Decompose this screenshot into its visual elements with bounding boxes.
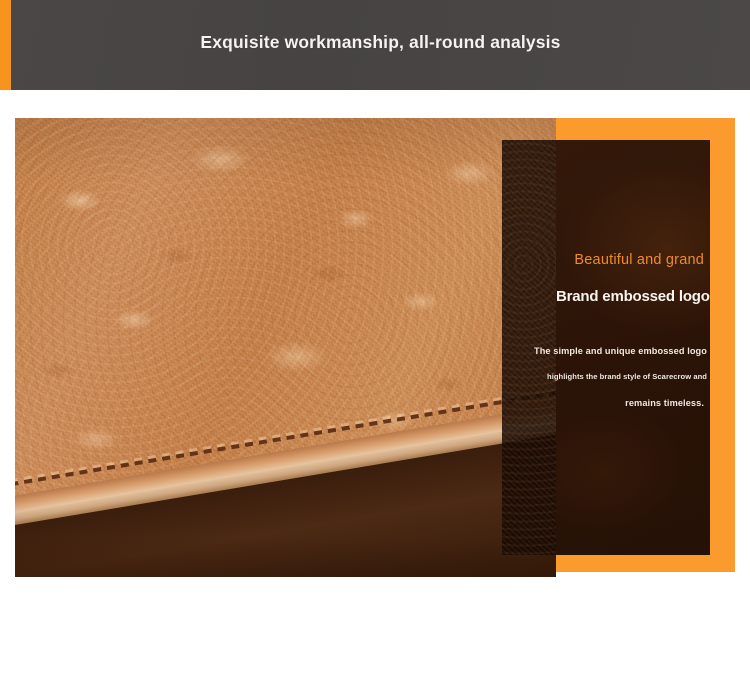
leather-vignette [15, 118, 556, 577]
header-banner: Exquisite workmanship, all-round analysi… [0, 0, 750, 90]
page-right-margin [735, 118, 750, 577]
header-panel: Exquisite workmanship, all-round analysi… [11, 0, 750, 90]
card-body-line-2: highlights the brand style of Scarecrow … [542, 372, 710, 381]
feature-text-card: Beautiful and grand Brand embossed logo … [502, 140, 710, 555]
page-bottom-margin [556, 690, 750, 695]
card-eyebrow-heading: Beautiful and grand [562, 252, 704, 268]
page-title: Exquisite workmanship, all-round analysi… [11, 0, 750, 90]
header-accent-bar [0, 0, 11, 90]
leather-product-photo [15, 118, 556, 577]
product-showcase: Beautiful and grand Brand embossed logo … [0, 118, 750, 577]
card-main-heading: Brand embossed logo [556, 288, 704, 305]
photo-bottom-shadow [15, 537, 556, 577]
card-body-line-3: remains timeless. [556, 398, 704, 408]
card-body-line-1: The simple and unique embossed logo [534, 346, 704, 356]
card-content: Beautiful and grand Brand embossed logo … [556, 140, 710, 555]
